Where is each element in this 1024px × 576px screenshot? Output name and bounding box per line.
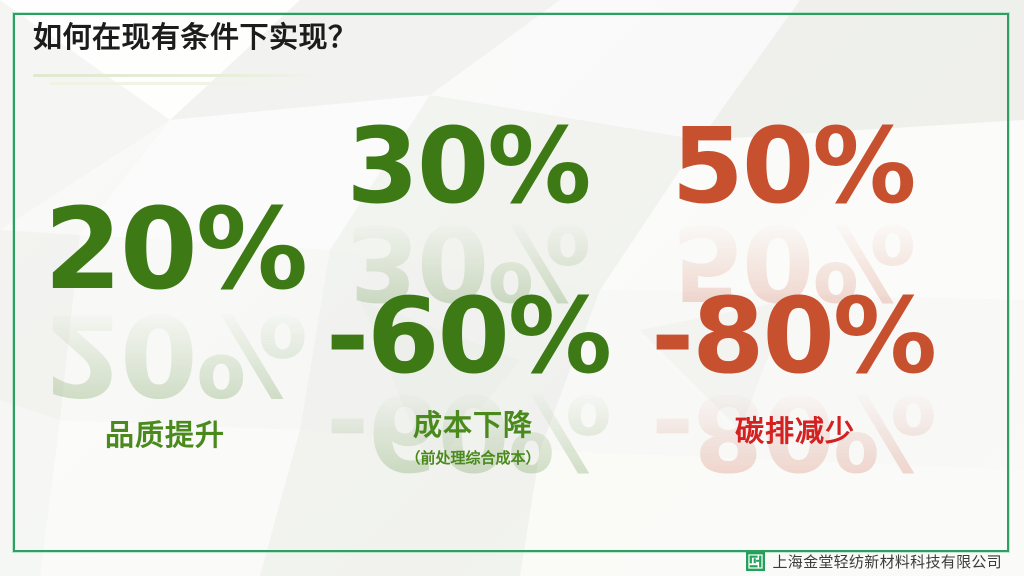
statistics-group: 20% 20% 30% 30% -60% -60% 50% 50% -80% -… xyxy=(0,0,1024,576)
stat-caption-carbon: 碳排减少 xyxy=(640,408,950,450)
stat-caption-carbon-label: 碳排减少 xyxy=(640,408,950,450)
stat-value-quality-line1: 20% xyxy=(25,196,325,305)
slide-canvas: 如何在现有条件下实现？ 20% 20% 30% 30% -60% -60% 50… xyxy=(0,0,1024,576)
stat-value-cost-line2: -60% xyxy=(318,286,618,387)
stat-caption-cost-sublabel: （前处理综合成本） xyxy=(328,447,618,468)
stat-value-carbon-line2: -80% xyxy=(628,286,958,387)
stat-column-quality: 20% 20% xyxy=(25,196,325,407)
stat-value-carbon-line1: 50% xyxy=(628,116,958,217)
stat-caption-cost-label: 成本下降 xyxy=(328,402,618,444)
company-logo-icon xyxy=(746,552,765,571)
stat-value-cost-line1: 30% xyxy=(318,116,618,217)
stat-caption-quality: 品质提升 xyxy=(25,412,305,454)
footer: 上海金堂轻纺新材料科技有限公司 xyxy=(746,551,1002,572)
footer-company-name: 上海金堂轻纺新材料科技有限公司 xyxy=(772,551,1002,572)
stat-caption-cost: 成本下降 （前处理综合成本） xyxy=(328,402,618,468)
stat-caption-quality-label: 品质提升 xyxy=(25,412,305,454)
